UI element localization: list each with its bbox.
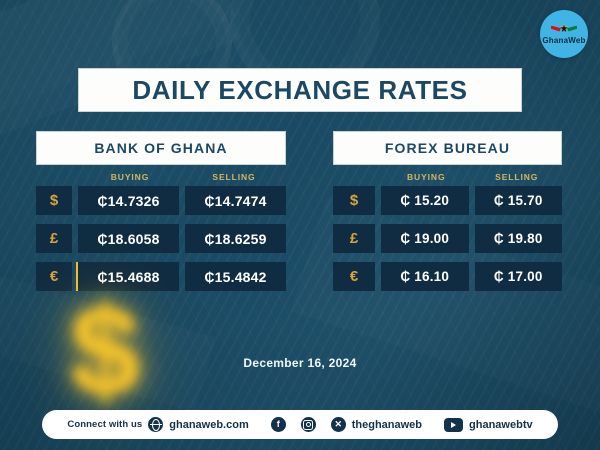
instagram-icon[interactable]	[301, 417, 316, 432]
rate-selling-usd: ₵14.7474	[185, 186, 286, 215]
rate-buying-gbp: ₵18.6058	[78, 224, 179, 253]
rate-buying-eur: ₵15.4688	[78, 262, 179, 291]
facebook-icon[interactable]: f	[271, 417, 286, 432]
rate-selling-gbp: ₵ 19.80	[475, 224, 563, 253]
column-header-buying: BUYING	[78, 172, 182, 182]
currency-symbol-eur-icon: €	[36, 262, 72, 291]
globe-icon[interactable]	[148, 417, 163, 432]
logo-text: GhanaWeb	[542, 36, 585, 45]
column-header-selling: SELLING	[182, 172, 286, 182]
social-handle[interactable]: theghanaweb	[352, 419, 422, 431]
connect-label: Connect with us	[67, 419, 142, 430]
table-row: € ₵ 16.10 ₵ 17.00	[333, 262, 562, 291]
rate-selling-eur: ₵ 17.00	[475, 262, 563, 291]
column-headers: BUYING SELLING	[36, 172, 286, 182]
website-link[interactable]: ghanaweb.com	[169, 419, 248, 431]
section-heading-text: BANK OF GHANA	[94, 140, 227, 156]
currency-symbol-eur-icon: €	[333, 262, 375, 291]
table-row: £ ₵18.6058 ₵18.6259	[36, 224, 286, 253]
exchange-rates-poster: GhanaWeb DAILY EXCHANGE RATES BANK OF GH…	[0, 0, 600, 450]
rate-selling-usd: ₵ 15.70	[475, 186, 563, 215]
column-header-buying: BUYING	[381, 172, 472, 182]
rate-buying-usd: ₵ 15.20	[381, 186, 469, 215]
youtube-handle[interactable]: ghanawebtv	[469, 419, 533, 431]
column-headers: BUYING SELLING	[333, 172, 562, 182]
date-label: December 16, 2024	[0, 356, 600, 370]
currency-symbol-gbp-icon: £	[333, 224, 375, 253]
table-row: £ ₵ 19.00 ₵ 19.80	[333, 224, 562, 253]
currency-symbol-usd-icon: $	[333, 186, 375, 215]
rate-buying-eur: ₵ 16.10	[381, 262, 469, 291]
page-title-text: DAILY EXCHANGE RATES	[132, 75, 467, 106]
section-heading-bank-of-ghana: BANK OF GHANA	[36, 131, 286, 165]
currency-symbol-usd-icon: $	[36, 186, 72, 215]
youtube-icon[interactable]	[444, 418, 463, 432]
table-row: $ ₵ 15.20 ₵ 15.70	[333, 186, 562, 215]
table-row: € ₵15.4688 ₵15.4842	[36, 262, 286, 291]
rate-selling-eur: ₵15.4842	[185, 262, 286, 291]
x-icon[interactable]: ✕	[331, 417, 346, 432]
section-bank-of-ghana: BANK OF GHANA BUYING SELLING $ ₵14.7326 …	[36, 131, 286, 300]
column-header-selling: SELLING	[472, 172, 563, 182]
currency-symbol-gbp-icon: £	[36, 224, 72, 253]
rate-selling-gbp: ₵18.6259	[185, 224, 286, 253]
footer-bar: Connect with us ghanaweb.com f ✕ theghan…	[42, 410, 558, 439]
ghanaweb-logo[interactable]: GhanaWeb	[540, 10, 588, 58]
ghana-eagle-icon	[551, 24, 577, 35]
page-title: DAILY EXCHANGE RATES	[78, 68, 522, 112]
section-heading-forex-bureau: FOREX BUREAU	[333, 131, 562, 165]
table-row: $ ₵14.7326 ₵14.7474	[36, 186, 286, 215]
rate-buying-usd: ₵14.7326	[78, 186, 179, 215]
section-heading-text: FOREX BUREAU	[385, 140, 510, 156]
section-forex-bureau: FOREX BUREAU BUYING SELLING $ ₵ 15.20 ₵ …	[333, 131, 562, 300]
rate-buying-gbp: ₵ 19.00	[381, 224, 469, 253]
